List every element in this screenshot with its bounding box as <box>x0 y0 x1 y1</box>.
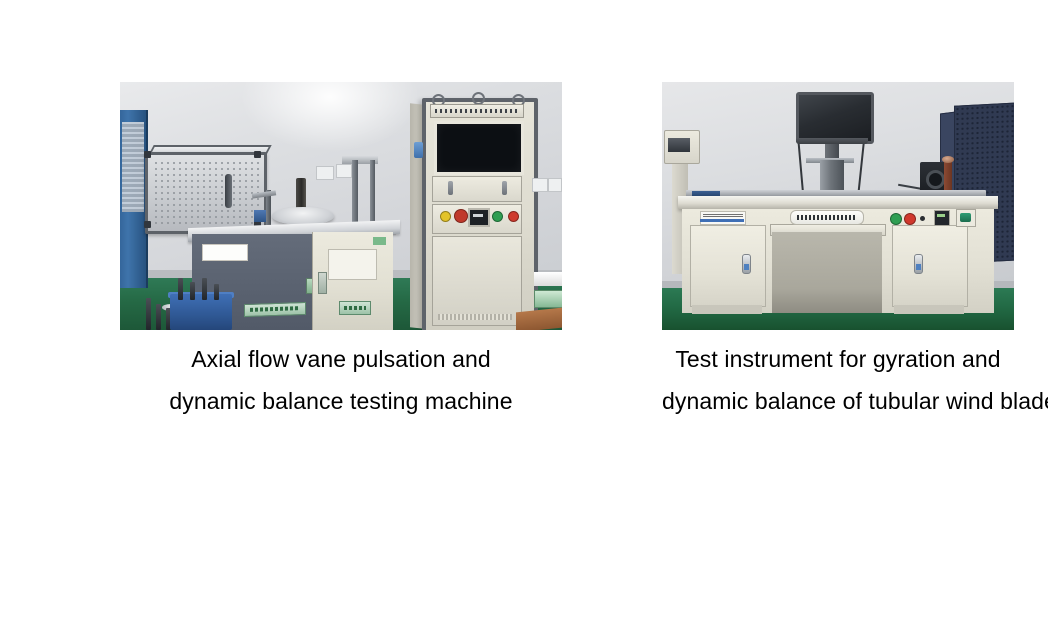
door-switch-strip[interactable] <box>318 272 327 294</box>
cabinet-lower-door[interactable] <box>432 236 522 326</box>
cabinet-side-tag <box>414 142 423 158</box>
photo-tubular-blade-balance-bench <box>662 82 1014 330</box>
cabinet-door-handle-left[interactable] <box>742 254 751 274</box>
fixture-bore-icon <box>926 170 945 189</box>
figure-left: Axial flow vane pulsation and dynamic ba… <box>120 82 562 422</box>
cabinet-door-right[interactable] <box>892 225 968 307</box>
probe-mount-block <box>254 210 266 222</box>
start-button-green[interactable] <box>890 213 902 225</box>
mandrel-tool <box>214 284 219 300</box>
indicator-lamp <box>920 216 925 221</box>
caption-right: Test instrument for gyration and dynamic… <box>662 338 1014 422</box>
paper-stack-right <box>534 272 562 286</box>
cabinet-drawer[interactable] <box>432 176 522 202</box>
enclosure-corner-icon <box>144 221 151 228</box>
cabinet-door-handle-right[interactable] <box>914 254 923 274</box>
power-switch-box[interactable] <box>956 209 976 227</box>
machine-nameplate <box>790 210 864 225</box>
warning-label <box>202 244 248 261</box>
wall-glare <box>240 82 420 152</box>
stop-button-red[interactable] <box>904 213 916 225</box>
drawer-handle[interactable] <box>502 181 507 195</box>
mandrel-tool <box>146 298 151 330</box>
figure-right: Test instrument for gyration and dynamic… <box>662 82 1014 422</box>
wall-socket <box>316 166 334 180</box>
bench-top <box>678 196 998 209</box>
mandrel-tool <box>156 304 161 330</box>
caption-left: Axial flow vane pulsation and dynamic ba… <box>120 338 562 422</box>
safety-enclosure <box>145 152 267 234</box>
enclosure-handle <box>225 174 232 208</box>
enclosure-corner-icon <box>254 151 261 158</box>
digital-meter <box>468 208 490 227</box>
blue-cabinet-louvers <box>122 122 144 212</box>
caption-right-line-1: Test instrument for gyration and <box>662 338 1014 380</box>
inspection-tag <box>373 237 386 245</box>
emergency-stop-button[interactable] <box>454 209 468 223</box>
monitor-screen[interactable] <box>796 92 874 144</box>
green-box-right <box>534 290 562 308</box>
cabinet-vent <box>438 314 512 320</box>
mandrel-tool <box>202 278 207 300</box>
caption-left-line-2: dynamic balance testing machine <box>120 380 562 422</box>
cabinet-display-screen[interactable] <box>434 121 524 175</box>
digital-meter <box>934 210 950 226</box>
photo-axial-flow-balance-machine <box>120 82 562 330</box>
selector-switch-yellow[interactable] <box>440 211 451 222</box>
figure-row: Axial flow vane pulsation and dynamic ba… <box>0 0 1048 628</box>
wall-socket <box>548 178 562 192</box>
mandrel-tool <box>178 278 183 300</box>
cabinet-door-left[interactable] <box>690 225 766 307</box>
mandrel-tool <box>190 282 195 300</box>
caption-left-line-1: Axial flow vane pulsation and <box>120 338 562 380</box>
wooden-board <box>516 308 562 330</box>
bench-plinth-right <box>894 305 964 314</box>
wall-socket <box>532 178 548 192</box>
bench-plinth-left <box>692 305 762 314</box>
background-equipment-screen <box>668 138 690 152</box>
drawer-handle[interactable] <box>448 181 453 195</box>
specification-label-band <box>700 219 744 222</box>
stop-button-red[interactable] <box>508 211 519 222</box>
cabinet-title-plate <box>430 104 524 118</box>
wall-socket <box>336 164 352 178</box>
knee-opening <box>772 232 882 313</box>
fixture-roller-cap <box>942 156 954 163</box>
enclosure-corner-icon <box>144 151 151 158</box>
specification-label <box>700 211 746 225</box>
brand-plate-secondary <box>339 301 371 315</box>
door-inspection-panel <box>328 249 377 280</box>
perforated-mesh <box>153 160 259 226</box>
start-button-green[interactable] <box>492 211 503 222</box>
brand-plate-primary <box>244 302 306 317</box>
caption-right-line-2: dynamic balance of tubular wind blades <box>662 380 1014 422</box>
